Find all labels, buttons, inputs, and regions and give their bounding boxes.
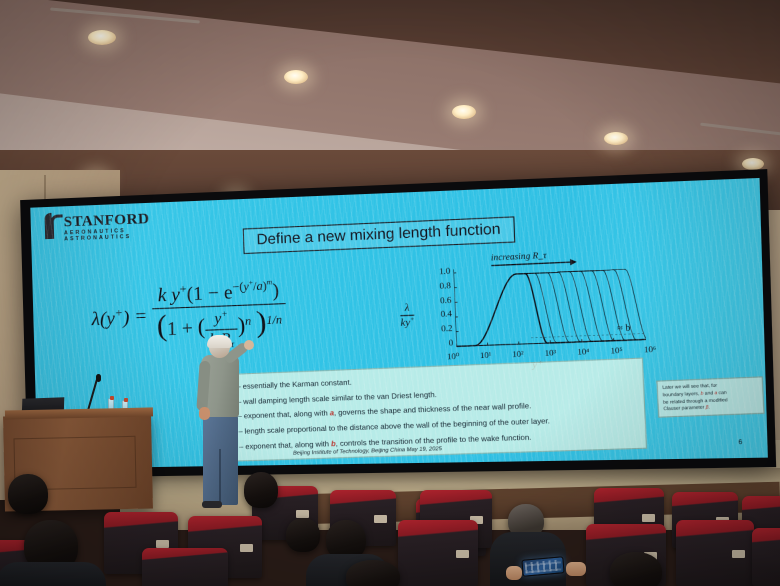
plot-y-axis-label: λ ky+ xyxy=(400,303,415,329)
seat-number-plate xyxy=(156,540,169,548)
ceiling-light xyxy=(604,132,628,145)
seat-number-plate xyxy=(456,550,469,558)
auditorium-seat[interactable] xyxy=(142,548,228,586)
x-tick: 10⁶ xyxy=(644,344,656,354)
y-tick: 0.2 xyxy=(441,324,453,334)
podium-top-edge xyxy=(5,407,153,419)
presenter-shoe xyxy=(202,501,222,508)
x-tick: 10² xyxy=(512,349,524,359)
presenter-hand xyxy=(199,407,210,420)
audience-head xyxy=(286,518,320,552)
stanford-tree-icon xyxy=(44,212,61,239)
logo-subline-astronautics: ASTRONAUTICS xyxy=(64,234,150,242)
seat-number-plate xyxy=(374,515,387,523)
x-tick: 10⁰ xyxy=(447,351,459,361)
audience-smartphone[interactable] xyxy=(521,556,564,577)
audience-hand xyxy=(566,562,586,576)
y-tick: 0.6 xyxy=(440,295,452,305)
seat-number-plate xyxy=(732,550,745,558)
ceiling-light xyxy=(284,70,308,84)
audience-head xyxy=(610,552,662,586)
plot-y-tick-labels: 1.0 0.8 0.6 0.4 0.2 0 xyxy=(426,266,453,348)
mixing-length-equation: λ(y+) = k y+(1 − e−(y+/a)m) (1 + (y+b Rτ… xyxy=(90,276,287,353)
audience-head xyxy=(244,472,278,508)
x-tick: 10¹ xyxy=(480,350,492,360)
ceiling-light xyxy=(88,30,116,45)
phone-screen-content xyxy=(525,559,562,573)
presenter-leg-split xyxy=(219,449,221,505)
seat-number-plate xyxy=(642,514,655,522)
y-tick: 1.0 xyxy=(439,266,451,276)
auditorium-seat[interactable] xyxy=(676,520,754,586)
microphone-icon xyxy=(96,374,101,382)
slide-title: Define a new mixing length function xyxy=(243,216,515,254)
y-tick: 0.4 xyxy=(440,309,452,319)
stanford-logo: STANFORD AERONAUTICS ASTRONAUTICS xyxy=(44,209,150,244)
audience-shoulders xyxy=(0,562,106,586)
lecture-hall-scene: STANFORD AERONAUTICS ASTRONAUTICS Define… xyxy=(0,0,780,586)
y-tick: 0.8 xyxy=(439,281,451,291)
y-tick: 0 xyxy=(448,338,453,348)
side-note-box: Later we will see that, for boundary lay… xyxy=(656,376,764,418)
x-tick: 10³ xyxy=(545,348,557,358)
auditorium-seat[interactable] xyxy=(398,520,478,586)
plot-right-annotation: ≈ b xyxy=(617,322,630,333)
seat-number-plate xyxy=(240,544,253,552)
slide-page-number: 6 xyxy=(738,440,742,446)
x-tick: 10⁵ xyxy=(610,346,622,356)
presenter-pointing-hand xyxy=(244,340,254,350)
ceiling-light xyxy=(742,158,764,170)
x-tick: 10⁴ xyxy=(577,347,589,357)
audience-hand xyxy=(506,566,522,580)
ceiling-light xyxy=(452,105,476,119)
presenter-hair xyxy=(207,335,232,348)
equals-sign: = xyxy=(135,306,147,329)
plot-axes xyxy=(453,259,645,348)
plot-curves xyxy=(453,259,646,351)
audience-head xyxy=(8,474,48,514)
audience-head xyxy=(346,560,400,586)
auditorium-seat[interactable] xyxy=(752,528,780,586)
equation-lhs: λ(y+) xyxy=(91,306,130,331)
